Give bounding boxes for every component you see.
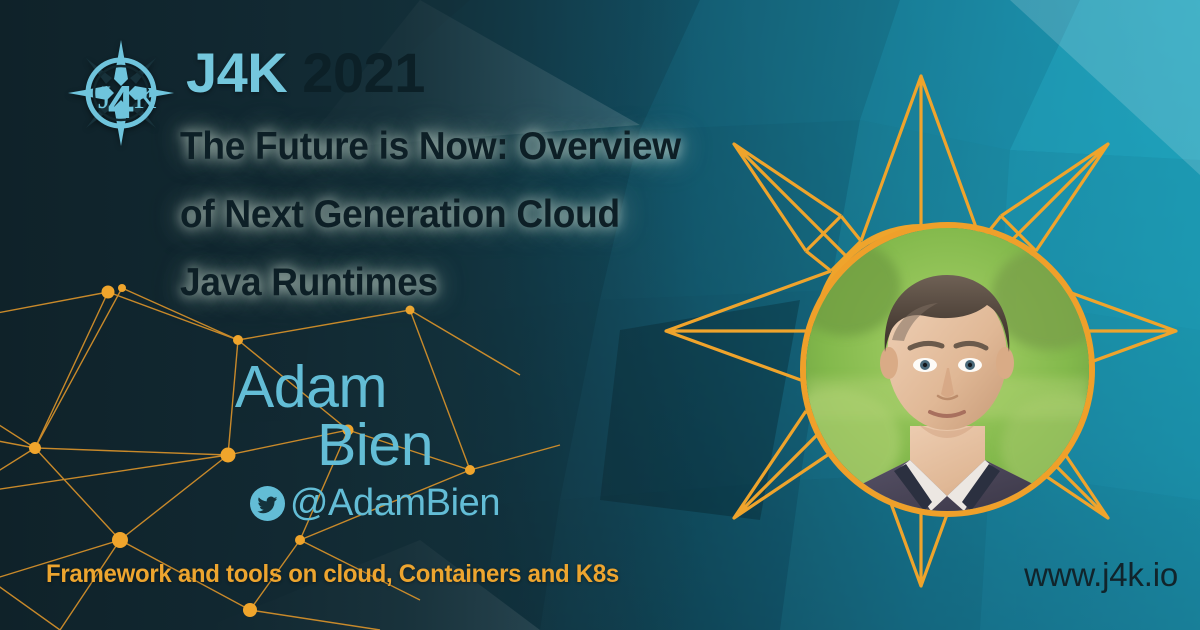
website-url[interactable]: www.j4k.io	[1024, 556, 1178, 594]
speaker-twitter[interactable]: @AdamBien	[0, 484, 700, 522]
session-promo-card: J 4 K J4K 2021 The Future is Now: Overvi…	[0, 0, 1200, 630]
event-name: J4K	[186, 41, 287, 104]
event-header: J4K 2021	[186, 45, 425, 101]
twitter-handle[interactable]: @AdamBien	[290, 484, 500, 522]
speaker-first-name: Adam	[0, 358, 700, 416]
svg-text:4: 4	[108, 76, 134, 128]
j4k-compass-logo-icon[interactable]: J 4 K	[66, 38, 176, 148]
twitter-bird-icon[interactable]	[250, 486, 285, 521]
avatar	[806, 228, 1089, 511]
event-year: 2021	[302, 41, 425, 104]
tagline: Framework and tools on cloud, Containers…	[46, 560, 619, 589]
speaker-last-name: Bien	[0, 416, 700, 474]
svg-text:K: K	[134, 80, 157, 115]
speaker-name: Adam Bien	[0, 358, 700, 475]
